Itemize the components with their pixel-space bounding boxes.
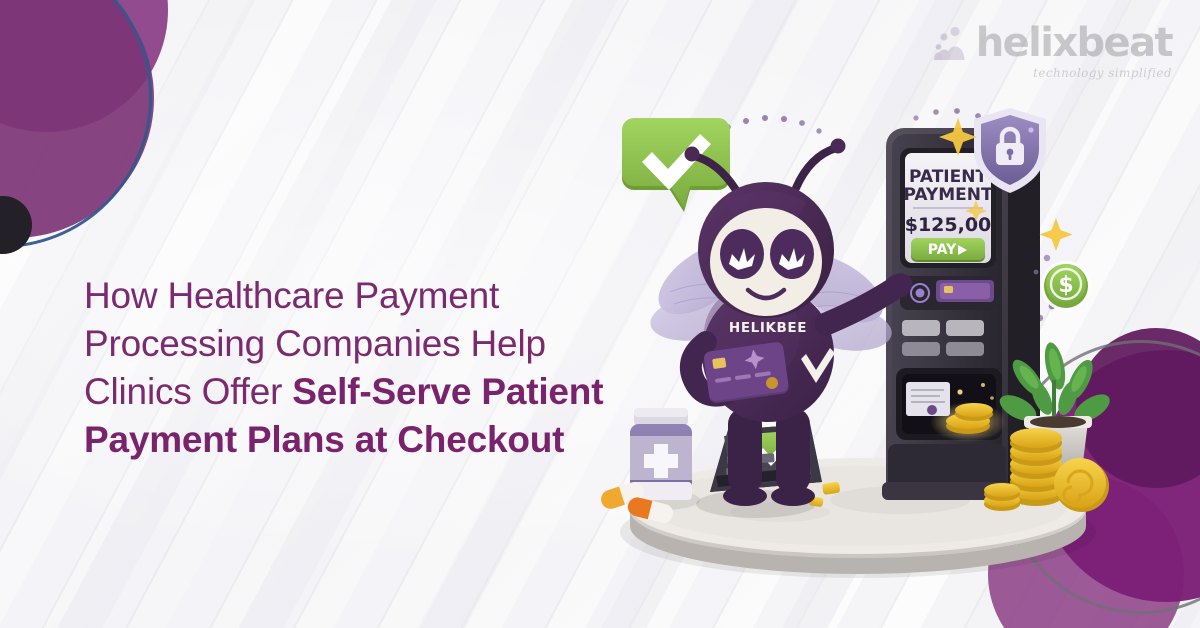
antenna-tip-left — [685, 147, 700, 162]
coin-stack-short — [984, 483, 1020, 511]
kiosk-dispenser-tray — [896, 368, 1006, 442]
decor-ring-top-left — [0, 0, 152, 248]
headline-line-2: Processing Companies Help — [84, 323, 546, 364]
mascot-chest-label: HELIKBEE — [729, 320, 807, 336]
antenna-tip-right — [831, 139, 846, 154]
receipt-paper — [906, 382, 950, 416]
headline-line-3-regular: Clinics Offer — [84, 371, 292, 412]
kiosk-pay-button[interactable]: PAY — [911, 238, 985, 262]
kiosk-amount: $125,00 — [905, 214, 992, 236]
logo-wordmark: helixbeat — [976, 24, 1172, 62]
headline-line-1: How Healthcare Payment — [84, 275, 499, 316]
svg-text:$: $ — [1058, 273, 1073, 298]
decor-circle-top-left-2 — [0, 0, 154, 238]
dollar-coin-icon: $ — [1041, 261, 1091, 311]
people-family-icon — [934, 24, 968, 60]
headline-line-4-bold: Payment Plans at Checkout — [84, 419, 564, 460]
headline-line-3-bold: Self-Serve Patient — [292, 371, 603, 412]
credit-card — [703, 341, 789, 404]
card-chip-icon — [712, 357, 726, 369]
page-title: How Healthcare Payment Processing Compan… — [84, 272, 684, 464]
helixbeat-logo[interactable]: helixbeat technology simplified — [934, 24, 1172, 80]
logo-tagline: technology simplified — [1033, 66, 1172, 80]
banner-canvas: helixbeat technology simplified How Heal… — [0, 0, 1200, 628]
kiosk-pay-label: PAY — [928, 242, 957, 258]
mascot-head — [698, 182, 834, 318]
kiosk-screen-title-2: PAYMENT — [903, 185, 992, 205]
decor-dot-top-left — [0, 196, 32, 254]
kiosk-card-slot[interactable] — [936, 280, 994, 302]
kiosk-screen-title-1: PATIENT — [909, 167, 987, 187]
decor-circle-top-left-1 — [0, 0, 168, 132]
hero-illustration: PATIENT PAYMENT $125,00 PAY — [600, 92, 1120, 588]
